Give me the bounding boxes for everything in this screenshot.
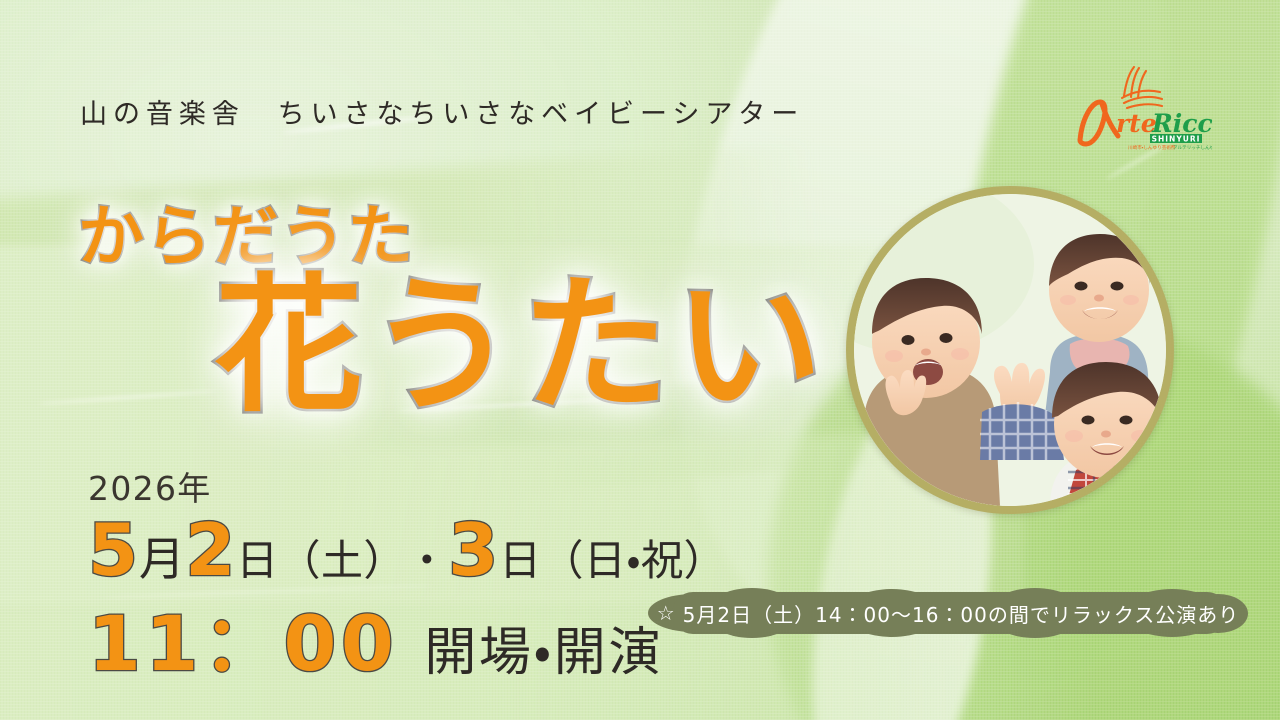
start-time: 11：00 (88, 606, 398, 682)
relax-performance-banner: ☆ 5月2日（土）14：00〜16：00の間でリラックス公演あり (648, 588, 1248, 638)
day2-suffix: 日（日・祝） (499, 540, 726, 582)
svg-text:アルテリッチしんゆり: アルテリッチしんゆり (1173, 145, 1212, 150)
svg-text:川崎市・しんゆり芸術祭: 川崎市・しんゆり芸術祭 (1128, 144, 1176, 150)
organizer-line: 山の音楽舎 ちいさなちいさなベイビーシアター (80, 92, 804, 131)
year-label: 2026年 (88, 462, 726, 510)
time-row: 11：00 開場・開演 (88, 606, 726, 685)
relax-note-text: 5月2日（土）14：00〜16：00の間でリラックス公演あり (683, 599, 1240, 628)
relax-star-icon: ☆ (657, 601, 676, 625)
day1-number: 2 (185, 514, 236, 586)
photo-ring (846, 186, 1174, 514)
time-label: 開場・開演 (424, 610, 663, 685)
svg-text:SHINYURI: SHINYURI (1152, 135, 1201, 144)
day2-number: 3 (448, 514, 499, 586)
svg-text:rte: rte (1116, 109, 1157, 138)
relax-banner-text: ☆ 5月2日（土）14：00〜16：00の間でリラックス公演あり (648, 588, 1248, 638)
date-row: 5 月 2 日（土） ・ 3 日（日・祝） (88, 514, 726, 586)
day1-suffix: 日（土） (236, 540, 406, 582)
poster-canvas: 山の音楽舎 ちいさなちいさなベイビーシアター rte Ricca SHINYUR… (0, 0, 1280, 720)
arte-ricca-logo: rte Ricca SHINYURI 川崎市・しんゆり芸術祭 アルテリッチしんゆ… (1072, 58, 1212, 150)
babies-photo-illustration (854, 194, 1166, 506)
babies-photo (854, 194, 1166, 506)
title-main: 花うたい (215, 272, 828, 420)
date-separator: ・ (406, 540, 448, 582)
month-kanji: 月 (139, 536, 185, 582)
arte-ricca-logo-mark: rte Ricca SHINYURI 川崎市・しんゆり芸術祭 アルテリッチしんゆ… (1072, 58, 1212, 150)
schedule-block: 2026年 5 月 2 日（土） ・ 3 日（日・祝） 11：00 開場・開演 (88, 462, 726, 685)
month-number: 5 (88, 514, 139, 586)
